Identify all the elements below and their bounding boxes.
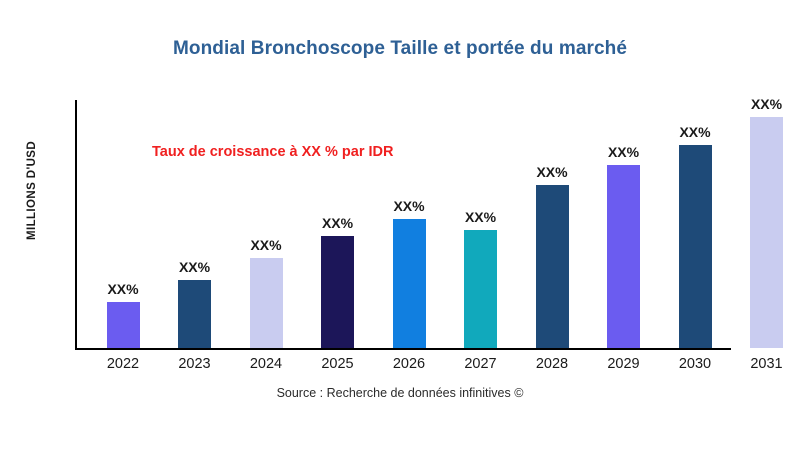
bar-value-label: XX% (322, 215, 353, 231)
x-tick-2027: 2027 (464, 356, 496, 372)
bar-value-label: XX% (608, 144, 639, 160)
x-tick-2022: 2022 (107, 356, 139, 372)
bar-value-label: XX% (393, 198, 424, 214)
bar-2022[interactable]: XX% (107, 302, 140, 348)
x-tick-2029: 2029 (607, 356, 639, 372)
bar-2031[interactable]: XX% (750, 117, 783, 348)
x-tick-2024: 2024 (250, 356, 282, 372)
bar-chart: Mondial Bronchoscope Taille et portée du… (0, 0, 800, 450)
source-note: Source : Recherche de données infinitive… (0, 386, 800, 400)
x-tick-2031: 2031 (750, 356, 782, 372)
x-tick-2028: 2028 (536, 356, 568, 372)
bar-2030[interactable]: XX% (679, 145, 712, 348)
bar-2024[interactable]: XX% (250, 258, 283, 348)
bar-2023[interactable]: XX% (178, 280, 211, 348)
x-tick-2030: 2030 (679, 356, 711, 372)
plot-area: XX%2022XX%2023XX%2024XX%2025XX%2026XX%20… (0, 0, 800, 450)
bar-value-label: XX% (179, 259, 210, 275)
bar-2026[interactable]: XX% (393, 219, 426, 348)
bar-value-label: XX% (751, 96, 782, 112)
bar-value-label: XX% (107, 281, 138, 297)
bar-2029[interactable]: XX% (607, 165, 640, 348)
x-tick-2023: 2023 (178, 356, 210, 372)
bar-value-label: XX% (536, 164, 567, 180)
bar-value-label: XX% (679, 124, 710, 140)
x-tick-2026: 2026 (393, 356, 425, 372)
bar-2027[interactable]: XX% (464, 230, 497, 348)
x-tick-2025: 2025 (321, 356, 353, 372)
bar-2028[interactable]: XX% (536, 185, 569, 348)
bar-value-label: XX% (465, 209, 496, 225)
bar-2025[interactable]: XX% (321, 236, 354, 348)
bar-value-label: XX% (250, 237, 281, 253)
